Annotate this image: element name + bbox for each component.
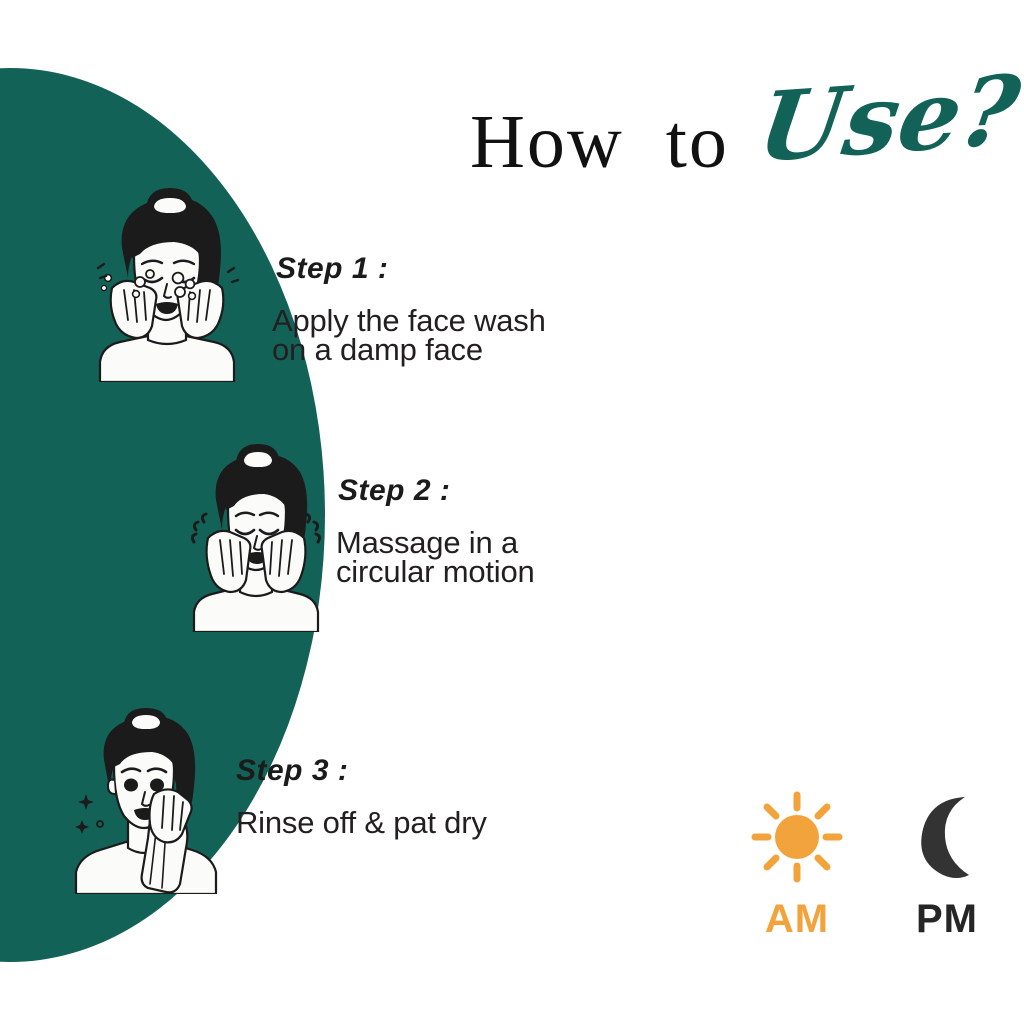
crescent-moon-icon (895, 785, 999, 889)
woman-washing-face-with-foam-icon (78, 186, 256, 382)
step-2-body: Massage in a circular motion (336, 528, 676, 587)
how-to-use-infographic: How to Use? (0, 0, 1024, 1024)
step-2-label: Step 2 : (338, 474, 450, 508)
pm-label: PM (916, 899, 978, 939)
step-3-body: Rinse off & pat dry (236, 808, 596, 837)
woman-massaging-face-circular-icon (186, 440, 326, 632)
usage-time-group: AM PM (745, 785, 995, 965)
step-3-label: Step 3 : (236, 754, 348, 788)
title-script-text: Use? (753, 62, 1024, 176)
step-1-label: Step 1 : (276, 252, 388, 286)
woman-patting-face-with-towel-icon (70, 708, 222, 894)
usage-time-am: AM (745, 785, 849, 939)
page-title: How to Use? (470, 86, 990, 216)
title-primary-text: How to (470, 104, 729, 180)
step-1-body: Apply the face wash on a damp face (272, 306, 632, 365)
am-label: AM (765, 899, 829, 939)
usage-time-pm: PM (895, 785, 999, 939)
sun-icon (745, 785, 849, 889)
